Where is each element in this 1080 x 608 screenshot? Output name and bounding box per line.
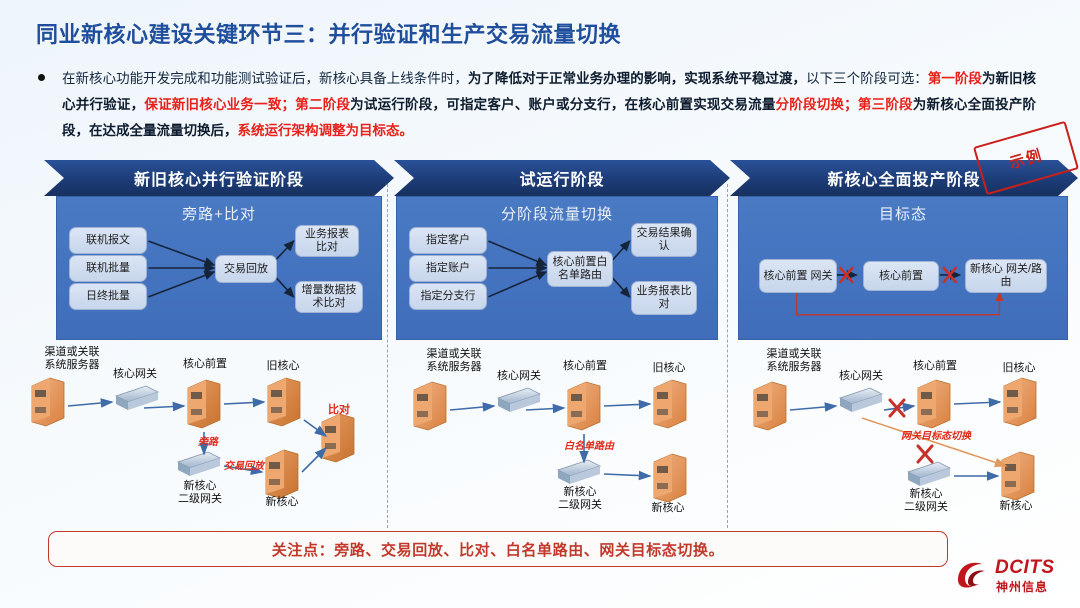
- para-seg-1: 在新核心功能开发完成和功能测试验证后，新核心具备上线条件时，: [62, 71, 468, 86]
- server-icon-old-core: [654, 380, 686, 428]
- switch-icon-core-gateway: [116, 386, 158, 410]
- switch-icon-new-core-l2-gateway: [558, 460, 600, 484]
- para-seg-7: 第二阶段: [295, 97, 350, 112]
- phase-1-box-title: 旁路+比对: [57, 203, 381, 224]
- diagram-2-label-new-core-l2-gateway: 新核心 二级网关: [544, 486, 616, 512]
- phase-2-process-panel: 分阶段流量切换 指定客户 指定账户 指定分支行 核心前置白 名单路由 交易结果确…: [396, 196, 718, 340]
- switch-icon-core-gateway: [498, 388, 540, 412]
- switch-icon-new-core-l2-gateway: [908, 462, 950, 486]
- phase-3-chain-3: 新核心 网关/路由: [965, 259, 1047, 293]
- diagram-parallel-verification: 渠道或关联 系统服务器 核心网关 核心前置 旧核心 比对 旁路 交易回放 新核心…: [20, 344, 388, 530]
- diagram-3-label-new-core-l2-gateway: 新核心 二级网关: [890, 488, 962, 514]
- diagram-1-label-new-core-l2-gateway: 新核心 二级网关: [164, 480, 236, 506]
- server-icon-source: [32, 378, 64, 426]
- phase-2-process-box: 分阶段流量切换 指定客户 指定账户 指定分支行 核心前置白 名单路由 交易结果确…: [396, 196, 718, 340]
- focus-points-callout: 关注点：旁路、交易回放、比对、白名单路由、网关目标态切换。: [48, 531, 948, 567]
- panel-divider-1: [387, 184, 388, 528]
- diagram-2-label-core-front: 核心前置: [550, 360, 620, 373]
- diagram-3-label-core-gateway: 核心网关: [826, 370, 896, 383]
- switch-icon-core-gateway: [840, 388, 882, 412]
- server-icon-old-core: [1004, 378, 1036, 426]
- diagram-1-label-core-front: 核心前置: [170, 358, 240, 371]
- page-title: 同业新核心建设关键环节三：并行验证和生产交易流量切换: [36, 17, 621, 49]
- diagram-2-label-old-core: 旧核心: [640, 362, 698, 375]
- intro-paragraph-block: 在新核心功能开发完成和功能测试验证后，新核心具备上线条件时，为了降低对于正常业务…: [36, 66, 1036, 144]
- dcits-swirl-icon: [955, 558, 991, 590]
- para-seg-10: 第三阶段: [858, 97, 913, 112]
- logo-text-cn: 神州信息: [996, 578, 1048, 595]
- phase-3-chain-2: 核心前置: [863, 261, 939, 291]
- para-seg-4: 第一阶段: [928, 71, 982, 86]
- para-seg-2: 为了降低对于正常业务办理的影响，实现系统平稳过渡，: [468, 71, 806, 86]
- server-icon-old-core: [268, 378, 300, 426]
- phase-2-output-2: 业务报表比 对: [631, 281, 697, 315]
- slide-root: 同业新核心建设关键环节三：并行验证和生产交易流量切换 在新核心功能开发完成和功能…: [0, 0, 1080, 608]
- diagram-1-label-new-core: 新核心: [254, 496, 310, 509]
- diagram-1-label-bypass: 旁路: [188, 436, 228, 449]
- phase-3-box-title: 目标态: [739, 203, 1067, 224]
- switch-icon-new-core-l2-gateway: [178, 452, 220, 476]
- phase-1-output-1: 业务报表 比对: [295, 225, 359, 257]
- phase-1-process-panel: 旁路+比对 联机报文 联机批量 日终批量 交易回放 业务报表 比对 增量数据技 …: [56, 196, 382, 340]
- phase-1-input-1: 联机报文: [69, 227, 147, 254]
- diagram-2-label-core-gateway: 核心网关: [484, 370, 554, 383]
- para-seg-12: 系统运行架构调整为目标态。: [238, 123, 414, 138]
- phase-1-middle-node: 交易回放: [215, 255, 277, 283]
- server-icon-compare: [322, 414, 354, 462]
- server-icon-source: [414, 382, 446, 430]
- diagram-3-label-old-core: 旧核心: [990, 362, 1048, 375]
- phase-2-input-3: 指定分支行: [409, 283, 487, 310]
- phase-1-output-2: 增量数据技 术比对: [295, 281, 363, 313]
- phase-2-output-1: 交易结果确 认: [631, 223, 697, 257]
- server-icon-new-core: [654, 454, 686, 502]
- phase-3-process-panel: 目标态 核心前置 网关 核心前置: [738, 196, 1068, 340]
- company-logo: DCITS 神州信息: [955, 555, 1073, 599]
- diagram-3-label-core-front: 核心前置: [900, 360, 970, 373]
- diagram-full-production: 渠道或关联 系统服务器 核心网关 核心前置 旧核心 网关目标态切换 新核心 二级…: [732, 344, 1076, 530]
- phase-1-input-2: 联机批量: [69, 255, 147, 282]
- server-icon-new-core: [266, 450, 298, 498]
- diagram-1-label-compare: 比对: [316, 404, 362, 417]
- server-icon-core-front: [568, 382, 600, 430]
- intro-paragraph: 在新核心功能开发完成和功能测试验证后，新核心具备上线条件时，为了降低对于正常业务…: [62, 66, 1036, 144]
- phase-2-input-2: 指定账户: [409, 255, 487, 282]
- phase-3-chain-1: 核心前置 网关: [759, 259, 837, 293]
- diagram-3-label-new-core: 新核心: [988, 500, 1044, 513]
- panel-divider-2: [727, 184, 728, 528]
- para-seg-8: 为试运行阶段，可指定客户、账户或分支行，在核心前置实现交易流量: [350, 97, 775, 112]
- para-seg-3: 以下三个阶段可选：: [806, 71, 928, 86]
- phase-1-process-box: 旁路+比对 联机报文 联机批量 日终批量 交易回放 业务报表 比对 增量数据技 …: [56, 196, 382, 340]
- para-seg-9: 分阶段切换；: [776, 97, 858, 112]
- diagram-trial-run: 渠道或关联 系统服务器 核心网关 核心前置 旧核心 白名单路由 新核心 二级网关…: [392, 344, 726, 530]
- phase-banner-2: 试运行阶段: [394, 160, 730, 196]
- logo-text-en: DCITS: [995, 557, 1055, 579]
- phase-2-middle-node: 核心前置白 名单路由: [547, 251, 613, 287]
- diagram-1-label-replay: 交易回放: [216, 460, 272, 473]
- diagram-1-label-core-gateway: 核心网关: [100, 368, 170, 381]
- diagram-3-label-gateway-switch: 网关目标态切换: [888, 430, 984, 443]
- server-icon-source: [754, 382, 786, 430]
- phase-2-box-title: 分阶段流量切换: [397, 203, 717, 224]
- server-icon-core-front: [918, 380, 950, 428]
- bullet-point-icon: [38, 74, 45, 81]
- diagram-1-label-old-core: 旧核心: [254, 360, 312, 373]
- phase-1-input-3: 日终批量: [69, 283, 147, 310]
- para-seg-6: 保证新旧核心业务一致；: [144, 97, 295, 112]
- server-icon-core-front: [188, 380, 220, 428]
- phase-banner-1: 新旧核心并行验证阶段: [44, 160, 394, 196]
- server-icon-new-core: [1002, 452, 1034, 500]
- phase-3-process-box: 目标态 核心前置 网关 核心前置: [738, 196, 1068, 340]
- diagram-2-label-whitelist-route: 白名单路由: [554, 440, 624, 453]
- phase-2-input-1: 指定客户: [409, 227, 487, 254]
- diagram-2-label-new-core: 新核心: [640, 502, 696, 515]
